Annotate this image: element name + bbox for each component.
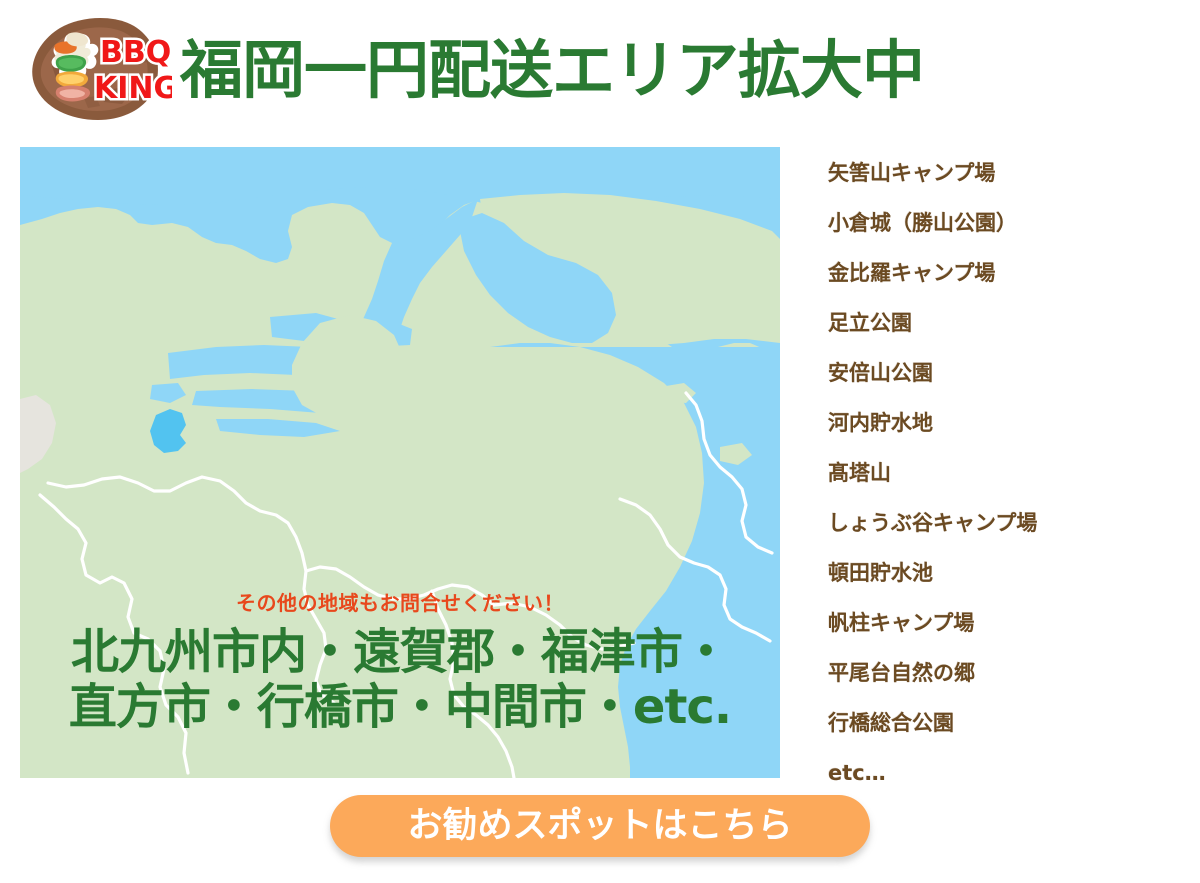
list-item: 帆柱キャンプ場 (828, 598, 1168, 648)
list-item: 小倉城（勝山公園） (828, 198, 1168, 248)
promo-banner: BBQ KING 福岡一円配送エリア拡大中 (0, 0, 1200, 883)
map-area-text: 北九州市内・遠賀郡・福津市・ 直方市・行橋市・中間市・etc. (20, 625, 780, 735)
logo-brand-line2: KING (94, 71, 172, 106)
delivery-area-map: その他の地域もお問合せください！ 北九州市内・遠賀郡・福津市・ 直方市・行橋市・… (20, 147, 780, 778)
page-title: 福岡一円配送エリア拡大中 (180, 39, 924, 102)
steak-icon: BBQ KING (22, 14, 172, 126)
spot-list: 矢筈山キャンプ場 小倉城（勝山公園） 金比羅キャンプ場 足立公園 安倍山公園 河… (828, 148, 1168, 798)
list-item: 矢筈山キャンプ場 (828, 148, 1168, 198)
list-item: 金比羅キャンプ場 (828, 248, 1168, 298)
map-area-line-2: 直方市・行橋市・中間市・etc. (20, 680, 780, 735)
list-item: 足立公園 (828, 298, 1168, 348)
list-item: 安倍山公園 (828, 348, 1168, 398)
recommended-spots-button[interactable]: お勧めスポットはこちら (330, 795, 870, 857)
list-item: しょうぶ谷キャンプ場 (828, 498, 1168, 548)
map-area-line-1: 北九州市内・遠賀郡・福津市・ (20, 625, 780, 680)
list-item: 平尾台自然の郷 (828, 648, 1168, 698)
list-item: etc… (828, 748, 1168, 798)
bbq-king-logo: BBQ KING (22, 14, 172, 126)
map-subtext: その他の地域もお問合せください！ (20, 587, 780, 616)
list-item: 頓田貯水池 (828, 548, 1168, 598)
list-item: 河内貯水地 (828, 398, 1168, 448)
list-item: 行橋総合公園 (828, 698, 1168, 748)
recommended-spots-button-label: お勧めスポットはこちら (407, 809, 792, 844)
header: BBQ KING 福岡一円配送エリア拡大中 (0, 0, 1200, 140)
logo-brand-line1: BBQ (100, 35, 171, 70)
list-item: 髙塔山 (828, 448, 1168, 498)
